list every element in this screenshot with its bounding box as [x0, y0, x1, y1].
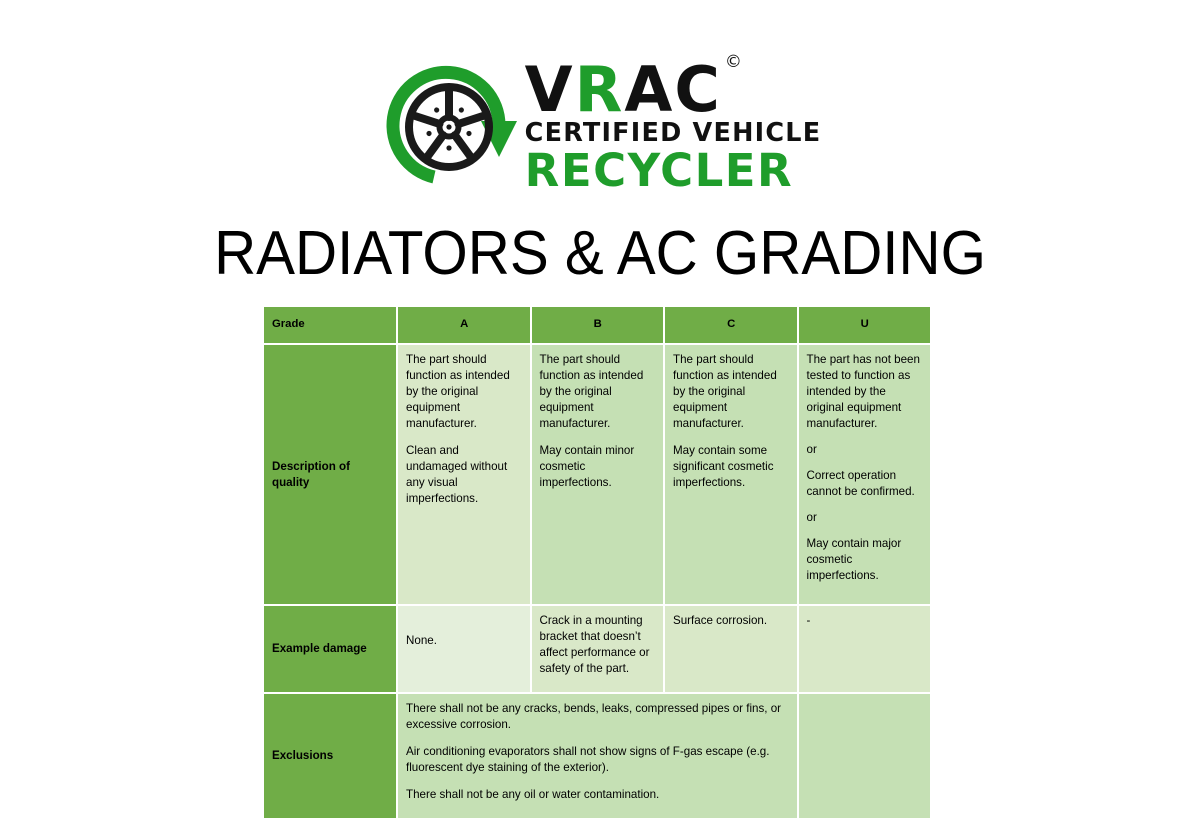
cell-paragraph: The part should function as intended by …	[540, 352, 657, 432]
cell-paragraph: None.	[406, 633, 523, 649]
cell-example-damage-c: Surface corrosion.	[665, 606, 799, 694]
table-row-example-damage: Example damage None. Crack in a mounting…	[264, 606, 932, 694]
table-row-description-of-quality: Description of quality The part should f…	[264, 345, 932, 606]
header-grade-c: C	[665, 307, 799, 345]
cell-example-damage-a: None.	[398, 606, 532, 694]
cell-exclusions-merged: There shall not be any cracks, bends, le…	[398, 694, 799, 820]
cell-paragraph: May contain minor cosmetic imperfections…	[540, 443, 657, 491]
logo-subbrand: RECYCLER	[525, 148, 794, 193]
cell-paragraph: Crack in a mounting bracket that doesn’t…	[540, 613, 657, 677]
cell-paragraph: The part has not been tested to function…	[807, 352, 924, 432]
table-header-row: Grade A B C U	[264, 307, 932, 345]
cell-paragraph: There shall not be any oil or water cont…	[406, 787, 790, 803]
grading-table: Grade A B C U Description of quality The…	[264, 307, 932, 820]
cell-paragraph: or	[807, 510, 924, 526]
row-label-exclusions: Exclusions	[264, 694, 398, 820]
cell-example-damage-b: Crack in a mounting bracket that doesn’t…	[532, 606, 666, 694]
page-title: RADIATORS & AC GRADING	[36, 218, 1164, 289]
header-grade-a: A	[398, 307, 532, 345]
cell-paragraph: Clean and undamaged without any visual i…	[406, 443, 523, 507]
logo-inner: VRAC© CERTIFIED VEHICLE RECYCLER	[379, 57, 822, 197]
cell-paragraph: Surface corrosion.	[673, 613, 790, 629]
cell-paragraph: May contain some significant cosmetic im…	[673, 443, 790, 491]
row-label-example-damage: Example damage	[264, 606, 398, 694]
cell-description-c: The part should function as intended by …	[665, 345, 799, 606]
copyright-icon: ©	[725, 55, 744, 71]
header-grade-u: U	[799, 307, 933, 345]
cell-paragraph: May contain major cosmetic imperfections…	[807, 536, 924, 584]
cell-paragraph: Air conditioning evaporators shall not s…	[406, 744, 790, 776]
header-grade-label: Grade	[264, 307, 398, 345]
cell-example-damage-u: -	[799, 606, 933, 694]
logo-wordmark: VRAC© CERTIFIED VEHICLE RECYCLER	[525, 61, 822, 194]
header-grade-b: B	[532, 307, 666, 345]
cell-paragraph: The part should function as intended by …	[673, 352, 790, 432]
cell-description-b: The part should function as intended by …	[532, 345, 666, 606]
cell-paragraph: or	[807, 442, 924, 458]
row-label-description-of-quality: Description of quality	[264, 345, 398, 606]
logo-letters-ac: AC	[624, 53, 721, 126]
logo-letter-r: R	[575, 53, 625, 126]
cell-paragraph: The part should function as intended by …	[406, 352, 523, 432]
brand-logo: VRAC© CERTIFIED VEHICLE RECYCLER	[0, 52, 1200, 202]
cell-description-a: The part should function as intended by …	[398, 345, 532, 606]
cell-exclusions-u	[799, 694, 933, 820]
wheel-recycle-arrow-logo-icon	[379, 57, 519, 197]
cell-paragraph: Correct operation cannot be confirmed.	[807, 468, 924, 500]
cell-description-u: The part has not been tested to function…	[799, 345, 933, 606]
table-row-exclusions: Exclusions There shall not be any cracks…	[264, 694, 932, 820]
logo-brand-name: VRAC©	[525, 61, 722, 118]
cell-paragraph: -	[807, 613, 924, 629]
cell-paragraph: There shall not be any cracks, bends, le…	[406, 701, 790, 733]
logo-letter-v: V	[525, 53, 575, 126]
